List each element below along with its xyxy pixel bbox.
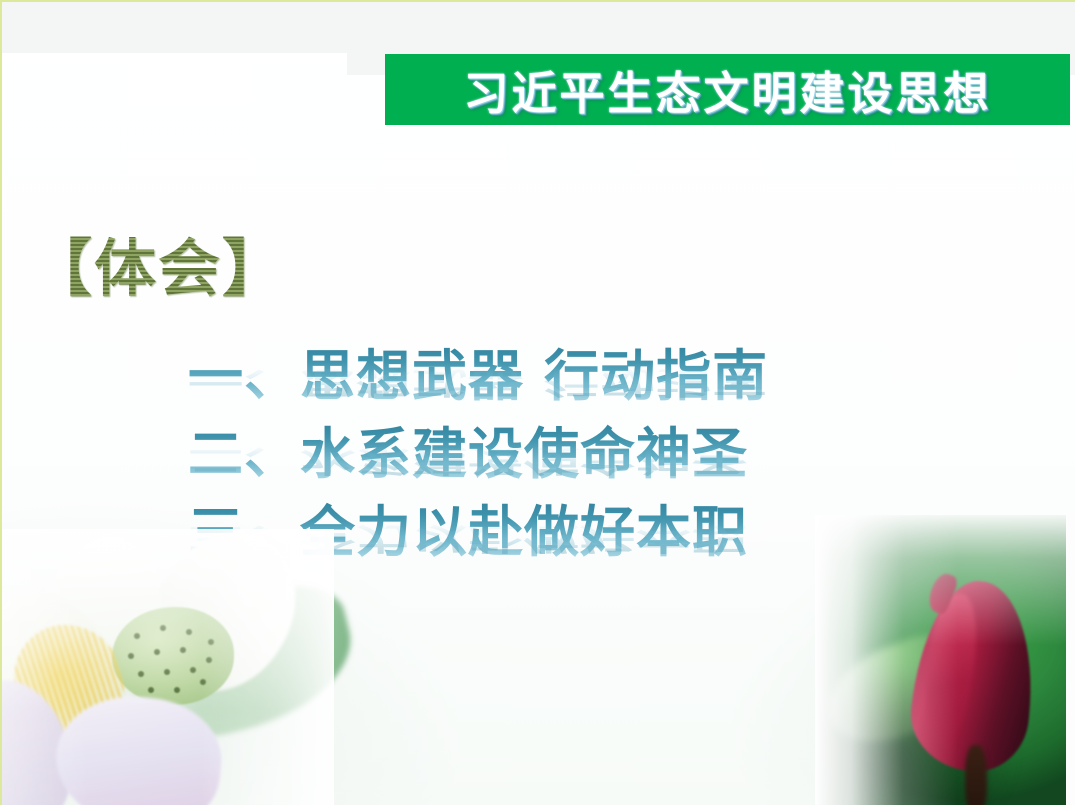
section-heading: 【体会】 xyxy=(30,218,286,308)
lotus-petal xyxy=(0,570,144,783)
lotus-leaf xyxy=(112,573,367,755)
rose-right-margin xyxy=(1066,515,1075,805)
rose-stem xyxy=(965,745,987,805)
title-bar: 习近平生态文明建设思想 xyxy=(385,54,1070,125)
rose-leaf xyxy=(815,622,986,758)
rose-bud-tip xyxy=(924,570,959,615)
list-item: 一、思想武器 行动指南 一、思想武器 行动指南 xyxy=(188,340,768,418)
top-gray-band xyxy=(2,2,1075,53)
lotus-petal xyxy=(0,667,88,805)
lotus-petal xyxy=(50,689,228,805)
rose-shadow xyxy=(815,665,1015,805)
rose-bud xyxy=(905,575,1042,776)
rose-foliage xyxy=(815,515,1075,805)
presentation-slide: 习近平生态文明建设思想 【体会】 一、思想武器 行动指南 一、思想武器 行动指南… xyxy=(0,0,1075,805)
list-item: 二、水系建设使命神圣 二、水系建设使命神圣 xyxy=(188,418,768,496)
rose-fade-overlay xyxy=(815,515,1075,805)
lotus-seed-pod xyxy=(112,607,234,705)
point-text-2: 二、水系建设使命神圣 xyxy=(188,418,768,490)
rose-bud-highlight xyxy=(917,591,983,746)
points-list: 一、思想武器 行动指南 一、思想武器 行动指南 二、水系建设使命神圣 二、水系建… xyxy=(188,340,768,574)
rose-bud-image xyxy=(815,515,1075,805)
slide-title: 习近平生态文明建设思想 xyxy=(463,57,991,122)
list-item: 三、全力以赴做好本职 三、全力以赴做好本职 xyxy=(188,496,768,574)
point-text-1: 一、思想武器 行动指南 xyxy=(188,340,768,412)
lotus-stamens xyxy=(14,625,124,743)
top-gray-band-notch xyxy=(347,53,385,75)
point-text-3: 三、全力以赴做好本职 xyxy=(188,496,768,568)
lotus-petal xyxy=(19,523,179,727)
